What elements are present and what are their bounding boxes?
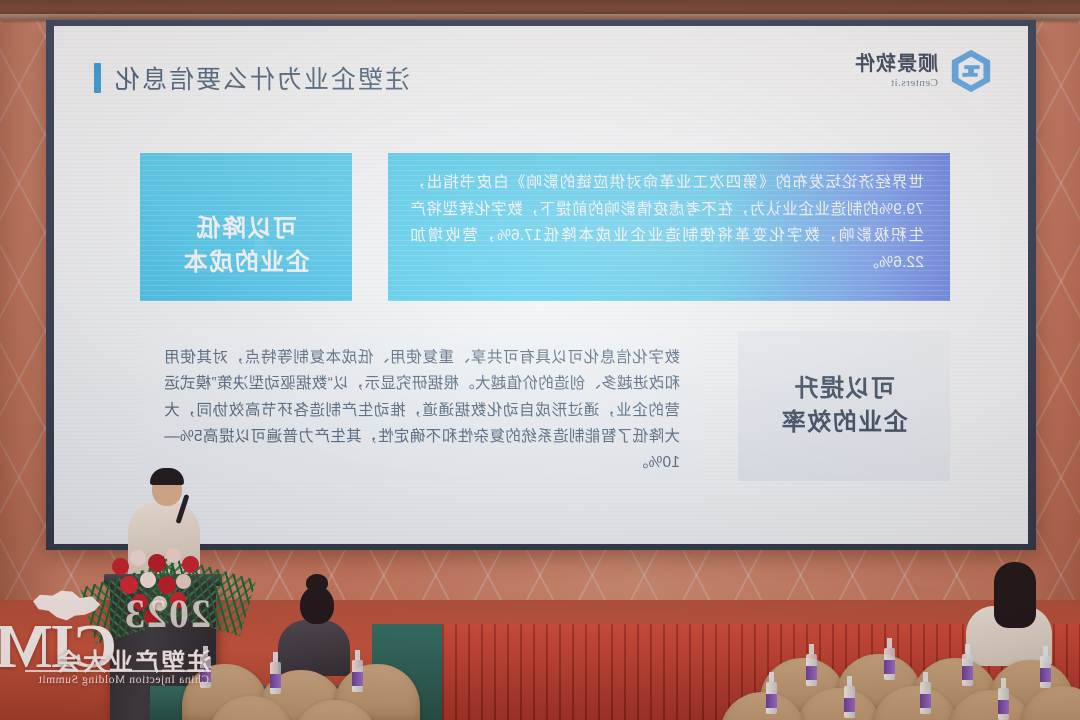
paragraph-card-cost: 世界经济论坛发布的《第四次工业革命对供应链的影响》白皮书指出，79.9%的制造业… (388, 153, 950, 301)
label-line-1: 可以提升 (793, 372, 895, 406)
water-bottle (766, 672, 777, 714)
slide-title-group: 注塑企业为什么要信息化 (94, 60, 410, 96)
water-bottle (962, 644, 973, 686)
water-bottle (844, 676, 855, 718)
logo-company-name-cn: 顺景软件 (854, 54, 938, 74)
paragraph-text-cost: 世界经济论坛发布的《第四次工业革命对供应链的影响》白皮书指出，79.9%的制造业… (410, 170, 924, 277)
title-accent-bar (94, 63, 101, 93)
water-bottle (998, 678, 1009, 720)
page-title: 注塑企业为什么要信息化 (113, 60, 410, 96)
attendee-hair-bun (306, 574, 328, 592)
projection-screen: 顺景软件 Centers.it 注塑企业为什么要信息化 世界经济论坛发布的《第四… (54, 26, 1028, 544)
water-bottle (920, 672, 931, 714)
event-logo-watermark: 2023 CIM 注塑产业大会 China Injection Molding … (14, 590, 229, 702)
paragraph-card-efficiency: 数字化信息化可以具有可共享、重复使用、低成本复制等特点，对其使用和改进越多、创造… (140, 331, 702, 481)
event-name-en: China Injection Molding Summit (38, 674, 209, 686)
paragraph-text-efficiency: 数字化信息化可以具有可共享、重复使用、低成本复制等特点，对其使用和改进越多、创造… (164, 345, 680, 477)
label-card-cost: 可以降低 企业的成本 (140, 153, 352, 301)
water-bottle (1040, 646, 1051, 688)
attendee-torso (278, 620, 350, 676)
centers-hexagon-logo-icon (948, 48, 994, 94)
event-year: 2023 (123, 590, 211, 637)
label-line-2: 企业的成本 (182, 246, 310, 280)
attendee-hair-long (994, 562, 1036, 628)
event-logo-divider (25, 670, 211, 672)
label-card-efficiency: 可以提升 企业的效率 (738, 331, 950, 481)
water-bottle (884, 638, 895, 680)
label-line-2: 企业的效率 (780, 406, 908, 440)
slide-logo: 顺景软件 Centers.it (854, 48, 994, 94)
presentation-slide: 顺景软件 Centers.it 注塑企业为什么要信息化 世界经济论坛发布的《第四… (54, 26, 1028, 544)
label-line-1: 可以降低 (195, 212, 297, 246)
speaker-hair (150, 468, 184, 485)
water-bottle (352, 650, 363, 692)
content-block-cost: 世界经济论坛发布的《第四次工业革命对供应链的影响》白皮书指出，79.9%的制造业… (140, 153, 950, 301)
water-bottle (270, 652, 281, 694)
projection-screen-frame: 顺景软件 Centers.it 注塑企业为什么要信息化 世界经济论坛发布的《第四… (46, 20, 1036, 550)
water-bottle (806, 644, 817, 686)
conference-room-photo: 顺景软件 Centers.it 注塑企业为什么要信息化 世界经济论坛发布的《第四… (0, 0, 1080, 720)
logo-company-name-en: Centers.it (854, 78, 938, 89)
content-block-efficiency: 可以提升 企业的效率 数字化信息化可以具有可共享、重复使用、低成本复制等特点，对… (140, 331, 950, 481)
